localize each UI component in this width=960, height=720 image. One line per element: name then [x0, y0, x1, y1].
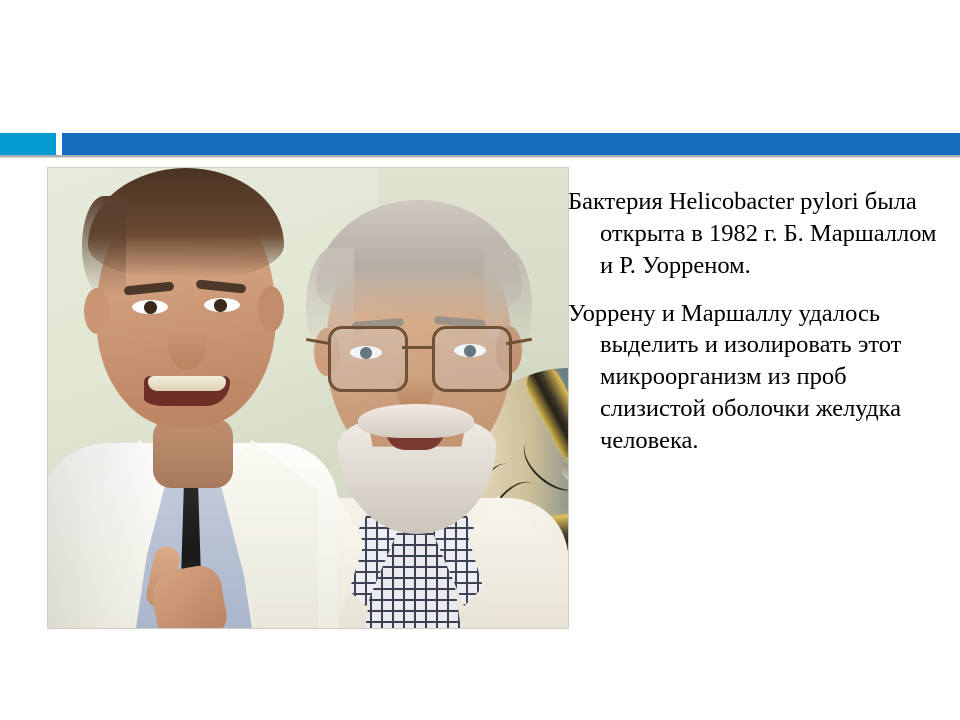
lens-left — [328, 326, 408, 392]
pupil-right — [214, 299, 227, 312]
body-paragraph-1: Бактерия Helicobacter pylori была открыт… — [568, 186, 954, 282]
slide-canvas: Бактерия Helicobacter pylori была открыт… — [0, 0, 960, 720]
ear-right — [258, 286, 284, 332]
header-band-main — [62, 133, 960, 157]
glasses-bridge — [402, 346, 434, 349]
teeth — [148, 376, 226, 391]
lens-right — [432, 326, 512, 392]
body-paragraph-2-text: Уоррену и Маршаллу удалось выделить и из… — [568, 300, 901, 454]
body-paragraph-2: Уоррену и Маршаллу удалось выделить и из… — [568, 298, 954, 457]
person-barry-marshall — [58, 168, 328, 628]
hair-side-left — [82, 196, 126, 296]
eyeglasses-icon — [328, 326, 510, 390]
nose — [168, 318, 206, 370]
pupil-left — [144, 301, 157, 314]
neck — [153, 418, 233, 488]
header-decorative-band — [0, 133, 960, 157]
header-divider-rule-light — [0, 157, 960, 158]
white-moustache — [358, 404, 474, 438]
body-paragraph-1-text: Бактерия Helicobacter pylori была открыт… — [568, 188, 937, 279]
scientists-photo — [48, 168, 568, 628]
body-text-column: Бактерия Helicobacter pylori была открыт… — [568, 186, 954, 473]
header-band-left-accent — [0, 133, 56, 157]
